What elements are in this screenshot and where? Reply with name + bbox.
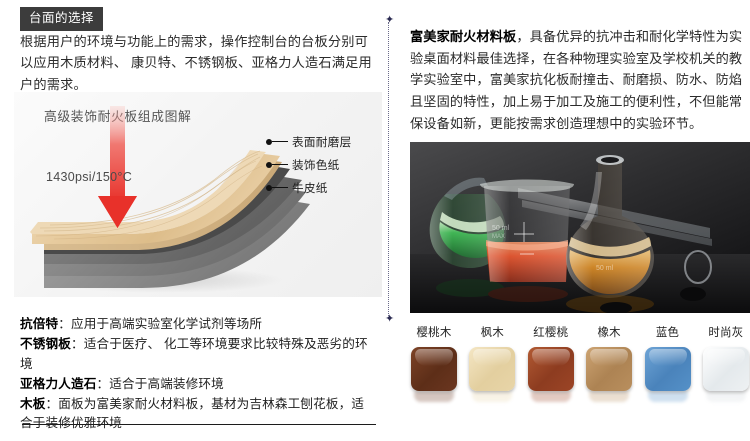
swatch-chip[interactable] xyxy=(528,347,574,391)
left-column: 台面的选择 根据用户的环境与功能上的需求，操作控制台的台板分别可以应用木质材料、… xyxy=(0,0,380,441)
swatch-item[interactable]: 枫木 xyxy=(466,324,518,402)
callout-leader-line xyxy=(272,187,288,188)
product-description: 富美家耐火材料板，具备优异的抗冲击和耐化学特性为实验桌面材料最佳选择，在各种物理… xyxy=(410,26,750,134)
swatch-item[interactable]: 橡木 xyxy=(583,324,635,402)
material-spec-list: 抗倍特：应用于高端实验室化学试剂等场所 不锈钢板：适合于医疗、 化工等环境要求比… xyxy=(20,315,376,434)
spec-separator: ： xyxy=(96,377,109,391)
divider-node-top-icon: ✦ xyxy=(385,16,394,25)
callout-decor-paper: 装饰色纸 xyxy=(266,157,340,173)
laminate-diagram: 高级装饰耐火板组成图解 xyxy=(14,92,382,297)
spec-term: 木板 xyxy=(20,397,46,411)
spec-desc: 面板为富美家耐火材料板，基材为吉林森工刨花板，适合于装修优雅环境 xyxy=(20,397,364,431)
swatch-item[interactable]: 樱桃木 xyxy=(408,324,460,402)
swatch-label: 时尚灰 xyxy=(700,324,750,340)
swatch-item[interactable]: 蓝色 xyxy=(642,324,694,402)
spec-term: 亚格力人造石 xyxy=(20,377,96,391)
spec-separator: ： xyxy=(58,317,71,331)
spec-separator: ： xyxy=(71,337,84,351)
product-detail-page: 台面的选择 根据用户的环境与功能上的需求，操作控制台的台板分别可以应用木质材料、… xyxy=(0,0,750,441)
spec-item: 不锈钢板：适合于医疗、 化工等环境要求比较特殊及恶劣的环境 xyxy=(20,335,376,375)
spec-term: 不锈钢板 xyxy=(20,337,71,351)
right-column: 富美家耐火材料板，具备优异的抗冲击和耐化学特性为实验桌面材料最佳选择，在各种物理… xyxy=(405,0,750,441)
spec-term: 抗倍特 xyxy=(20,317,58,331)
callout-kraft-paper: 牛皮纸 xyxy=(266,180,328,196)
swatch-reflection xyxy=(531,392,571,402)
spec-item: 抗倍特：应用于高端实验室化学试剂等场所 xyxy=(20,315,376,335)
divider-node-bottom-icon: ✦ xyxy=(385,315,394,324)
swatch-label: 橡木 xyxy=(583,324,635,340)
product-name-lead: 富美家耐火材料板 xyxy=(410,29,516,44)
callout-leader-line xyxy=(272,164,288,165)
red-beaker: 50 ml MAX xyxy=(480,180,574,283)
spec-desc: 适合于高端装修环境 xyxy=(109,377,224,391)
swatch-label: 红樱桃 xyxy=(525,324,577,340)
swatch-item[interactable]: 时尚灰 xyxy=(700,324,750,402)
pressure-label: 1430psi/150°C xyxy=(46,170,132,184)
swatch-reflection xyxy=(414,392,454,402)
callout-label: 装饰色纸 xyxy=(292,159,340,172)
product-description-body: ，具备优异的抗冲击和耐化学特性为实验桌面材料最佳选择，在各种物理实验室及学校机关… xyxy=(410,29,742,131)
swatch-chip[interactable] xyxy=(586,347,632,391)
spec-item: 亚格力人造石：适合于高端装修环境 xyxy=(20,375,376,395)
swatch-reflection xyxy=(706,392,746,402)
intro-paragraph: 根据用户的环境与功能上的需求，操作控制台的台板分别可以应用木质材料、 康贝特、不… xyxy=(20,31,372,95)
swatch-chip[interactable] xyxy=(469,347,515,391)
swatch-chip[interactable] xyxy=(645,347,691,391)
column-divider: ✦ ✦ xyxy=(388,22,391,318)
swatch-reflection xyxy=(589,392,629,402)
callout-leader-line xyxy=(272,141,288,142)
swatch-label: 樱桃木 xyxy=(408,324,460,340)
svg-text:50 ml: 50 ml xyxy=(596,265,614,272)
swatch-reflection xyxy=(648,392,688,402)
laboratory-photo: 50 ml MAX 50 ml xyxy=(410,142,750,313)
swatch-label: 枫木 xyxy=(466,324,518,340)
svg-text:MAX: MAX xyxy=(492,234,505,240)
callout-surface-layer: 表面耐磨层 xyxy=(266,134,351,150)
swatch-chip[interactable] xyxy=(703,347,749,391)
callout-label: 牛皮纸 xyxy=(292,182,328,195)
spec-separator: ： xyxy=(46,397,59,411)
pressure-arrow xyxy=(98,106,137,228)
callout-label: 表面耐磨层 xyxy=(292,136,351,149)
swatch-label: 蓝色 xyxy=(642,324,694,340)
swatch-reflection xyxy=(472,392,512,402)
bottom-divider-rule xyxy=(22,424,376,425)
swatch-item[interactable]: 红樱桃 xyxy=(525,324,577,402)
swatch-chip[interactable] xyxy=(411,347,457,391)
section-title-badge: 台面的选择 xyxy=(20,7,103,31)
lab-glassware-illustration: 50 ml MAX 50 ml xyxy=(410,142,750,313)
spec-item: 木板：面板为富美家耐火材料板，基材为吉林森工刨花板，适合于装修优雅环境 xyxy=(20,395,376,435)
svg-text:50 ml: 50 ml xyxy=(492,225,510,232)
color-swatch-row: 樱桃木 枫木 红樱桃 橡木 蓝色 xyxy=(408,324,750,402)
spec-desc: 应用于高端实验室化学试剂等场所 xyxy=(71,317,262,331)
